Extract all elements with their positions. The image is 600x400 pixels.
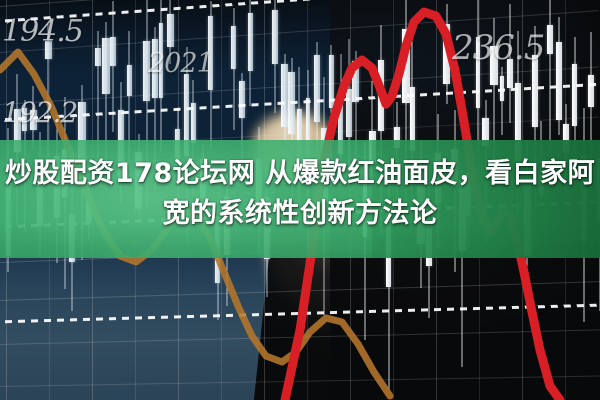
title-line-2: 宽的系统性创新方法论 (163, 195, 438, 233)
banner-image: 194.5192.22021236.52005.51992 炒股配资178论坛网… (0, 0, 600, 400)
axis-label: 236.5 (452, 28, 544, 68)
title-block: 炒股配资178论坛网 从爆款红油面皮，看白家阿 宽的系统性创新方法论 (0, 155, 600, 233)
axis-label: 2021 (148, 48, 213, 79)
title-line-1: 炒股配资178论坛网 从爆款红油面皮，看白家阿 (5, 155, 595, 193)
axis-label: 194.5 (2, 14, 83, 49)
axis-label: 192.2 (2, 96, 77, 129)
